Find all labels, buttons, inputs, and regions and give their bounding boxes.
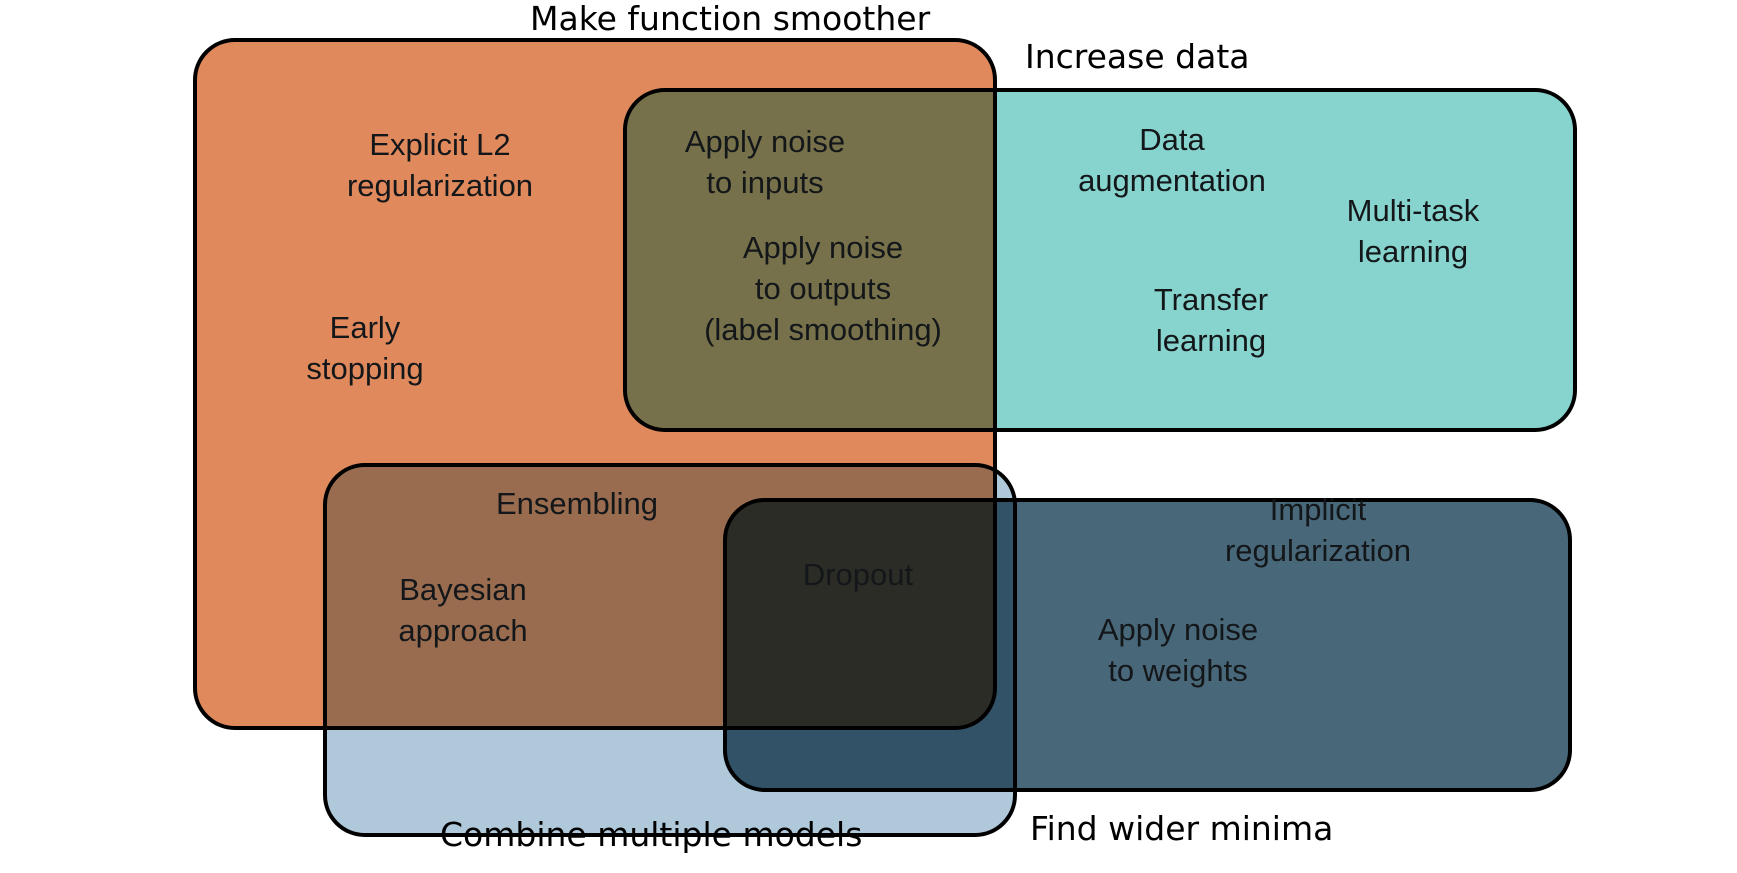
venn-item-line: learning xyxy=(1347,232,1480,273)
venn-item-line: (label smoothing) xyxy=(704,310,942,351)
venn-item-line: approach xyxy=(398,611,527,652)
venn-item-line: Data xyxy=(1078,120,1266,161)
venn-item-line: Multi-task xyxy=(1347,191,1480,232)
venn-item-transfer-learning: Transferlearning xyxy=(1154,280,1268,362)
venn-item-line: Implicit xyxy=(1225,490,1411,531)
venn-item-line: stopping xyxy=(306,349,423,390)
venn-item-implicit-regularization: Implicitregularization xyxy=(1225,490,1411,572)
venn-item-line: Early xyxy=(306,308,423,349)
venn-item-line: Ensembling xyxy=(496,484,658,525)
venn-item-line: to weights xyxy=(1098,651,1258,692)
group-caption-combine-multiple-models: Combine multiple models xyxy=(440,818,862,851)
venn-item-line: to inputs xyxy=(685,163,845,204)
venn-item-early-stopping: Earlystopping xyxy=(306,308,423,390)
venn-item-line: augmentation xyxy=(1078,161,1266,202)
venn-item-dropout: Dropout xyxy=(803,555,913,596)
venn-item-line: Apply noise xyxy=(685,122,845,163)
venn-item-line: Transfer xyxy=(1154,280,1268,321)
venn-item-line: Explicit L2 xyxy=(347,125,533,166)
venn-item-line: Bayesian xyxy=(398,570,527,611)
venn-item-bayesian-approach: Bayesianapproach xyxy=(398,570,527,652)
diagram-canvas: Make function smootherIncrease dataCombi… xyxy=(0,0,1737,873)
group-caption-make-function-smoother: Make function smoother xyxy=(530,2,930,35)
venn-item-ensembling: Ensembling xyxy=(496,484,658,525)
venn-item-line: Dropout xyxy=(803,555,913,596)
venn-item-apply-noise-to-inputs: Apply noiseto inputs xyxy=(685,122,845,204)
venn-diagram-svg xyxy=(0,0,1737,873)
venn-item-line: Apply noise xyxy=(1098,610,1258,651)
venn-item-apply-noise-to-outputs: Apply noiseto outputs(label smoothing) xyxy=(704,228,942,351)
venn-item-apply-noise-to-weights: Apply noiseto weights xyxy=(1098,610,1258,692)
venn-item-line: regularization xyxy=(1225,531,1411,572)
venn-item-line: regularization xyxy=(347,166,533,207)
group-caption-find-wider-minima: Find wider minima xyxy=(1030,812,1333,845)
venn-item-multi-task-learning: Multi-tasklearning xyxy=(1347,191,1480,273)
venn-item-line: to outputs xyxy=(704,269,942,310)
venn-item-line: learning xyxy=(1154,321,1268,362)
group-caption-increase-data: Increase data xyxy=(1025,40,1249,73)
venn-item-line: Apply noise xyxy=(704,228,942,269)
venn-item-explicit-l2-regularization: Explicit L2regularization xyxy=(347,125,533,207)
venn-item-data-augmentation: Dataaugmentation xyxy=(1078,120,1266,202)
